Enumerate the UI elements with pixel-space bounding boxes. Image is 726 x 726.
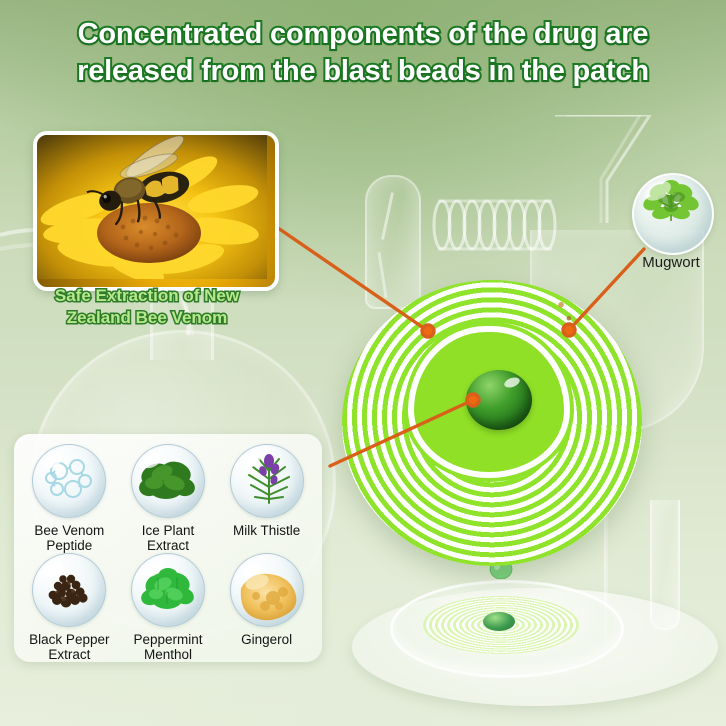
ingredient-item[interactable]: Milk Thistle <box>217 444 316 553</box>
leafy-green-icon <box>131 444 205 518</box>
ingredient-item[interactable]: Black Pepper Extract <box>20 553 119 662</box>
mugwort-bubble <box>632 173 714 255</box>
patch-granules-icon <box>547 288 625 330</box>
mugwort-herb-icon <box>634 175 708 249</box>
ingredient-label: Bee Venom Peptide <box>34 523 104 553</box>
bee-caption-line-2: Zealand Bee Venom <box>22 307 272 329</box>
thistle-icon <box>230 444 304 518</box>
ingredient-label: Ice Plant Extract <box>142 523 195 553</box>
blast-bead <box>466 370 532 430</box>
petri-bead <box>483 612 515 631</box>
page-title: Concentrated components of the drug are … <box>0 16 726 89</box>
ingredient-item[interactable]: Peppermint Menthol <box>119 553 218 662</box>
molecule-icon <box>32 444 106 518</box>
bee-venom-photo-card <box>33 131 279 291</box>
ingredient-label: Black Pepper Extract <box>29 632 109 662</box>
patch-rings <box>342 280 642 566</box>
condenser-coil-icon <box>430 195 560 255</box>
ingredients-panel: Bee Venom Peptide <box>14 434 322 662</box>
bee-on-flower-icon <box>37 135 267 279</box>
peppercorn-icon <box>32 553 106 627</box>
headline-line-1: Concentrated components of the drug are <box>0 16 726 53</box>
poster-canvas: Concentrated components of the drug are … <box>0 0 726 726</box>
ginger-powder-icon <box>230 553 304 627</box>
ingredient-label: Peppermint Menthol <box>133 632 202 662</box>
ingredient-item[interactable]: Ice Plant Extract <box>119 444 218 553</box>
blast-bead-patch <box>342 280 642 566</box>
mint-leaves-icon <box>131 553 205 627</box>
ingredient-item[interactable]: Bee Venom Peptide <box>20 444 119 553</box>
bee-caption-line-1: Safe Extraction of New <box>22 285 272 307</box>
mugwort-label: Mugwort <box>617 254 725 271</box>
headline-line-2: released from the blast beads in the pat… <box>0 53 726 90</box>
vessel-highlight-icon <box>381 192 394 240</box>
bee-card-caption: Safe Extraction of New Zealand Bee Venom <box>22 285 272 328</box>
ingredient-label: Gingerol <box>241 632 292 647</box>
ingredient-label: Milk Thistle <box>233 523 300 538</box>
ingredient-item[interactable]: Gingerol <box>217 553 316 662</box>
